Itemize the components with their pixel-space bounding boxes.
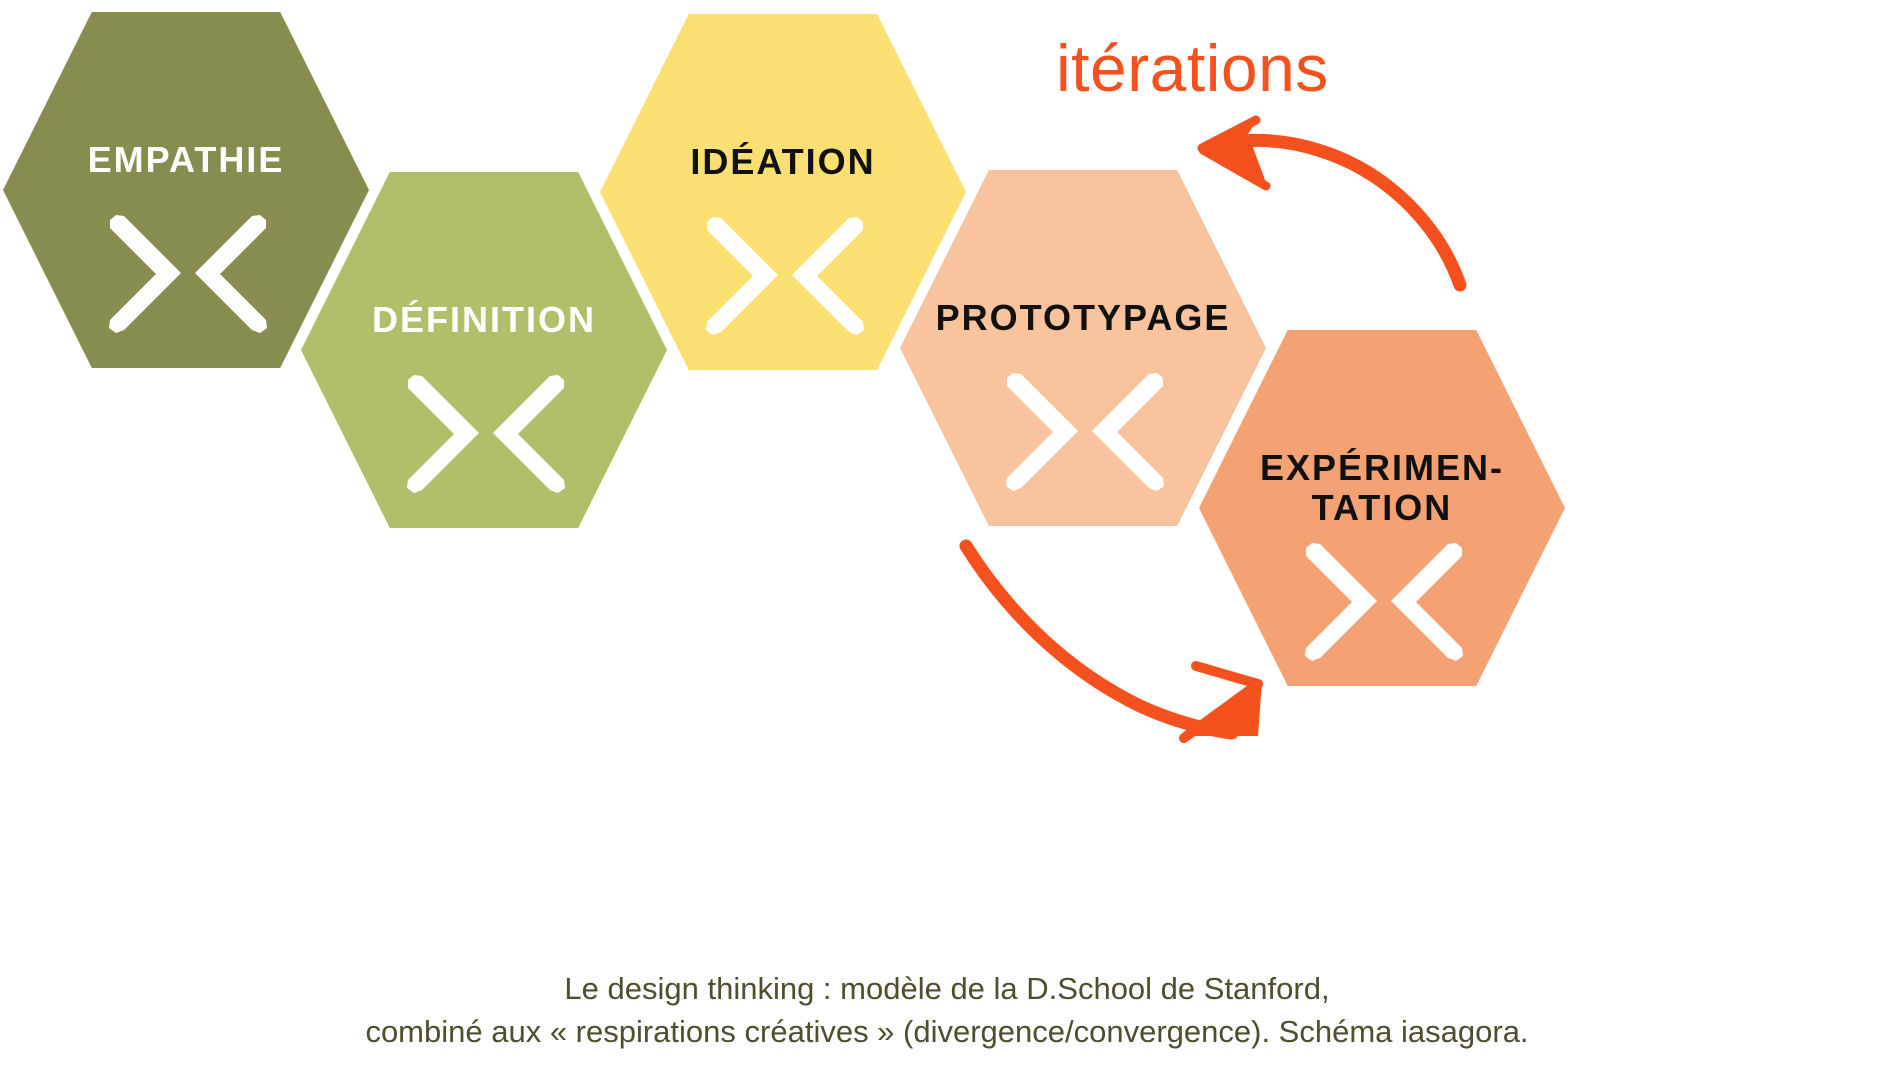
- iteration-arrow-right-icon: [966, 546, 1262, 738]
- hexagon-shape-experimentation: [1199, 330, 1565, 686]
- design-thinking-diagram: EMPATHIEDÉFINITIONIDÉATIONPROTOTYPAGEEXP…: [0, 0, 1894, 1085]
- hexagon-shape-prototypage: [900, 170, 1266, 526]
- hexagon-prototypage[interactable]: [900, 170, 1266, 526]
- hexagon-shape-ideation: [600, 14, 966, 370]
- hexagon-definition[interactable]: [301, 172, 667, 528]
- hexagon-experimentation[interactable]: [1199, 330, 1565, 686]
- iteration-arrow-left-icon: [1202, 119, 1460, 285]
- caption-line-1: Le design thinking : modèle de la D.Scho…: [0, 968, 1894, 1011]
- hexagon-ideation[interactable]: [600, 14, 966, 370]
- hexagon-shape-empathie: [3, 12, 369, 368]
- iterations-label: itérations: [1056, 30, 1329, 106]
- diagram-canvas: [0, 0, 1894, 1085]
- hexagon-shape-definition: [301, 172, 667, 528]
- caption-line-2: combiné aux « respirations créatives » (…: [0, 1011, 1894, 1054]
- hexagon-layer: [3, 12, 1565, 686]
- diagram-caption: Le design thinking : modèle de la D.Scho…: [0, 968, 1894, 1054]
- hexagon-empathie[interactable]: [3, 12, 369, 368]
